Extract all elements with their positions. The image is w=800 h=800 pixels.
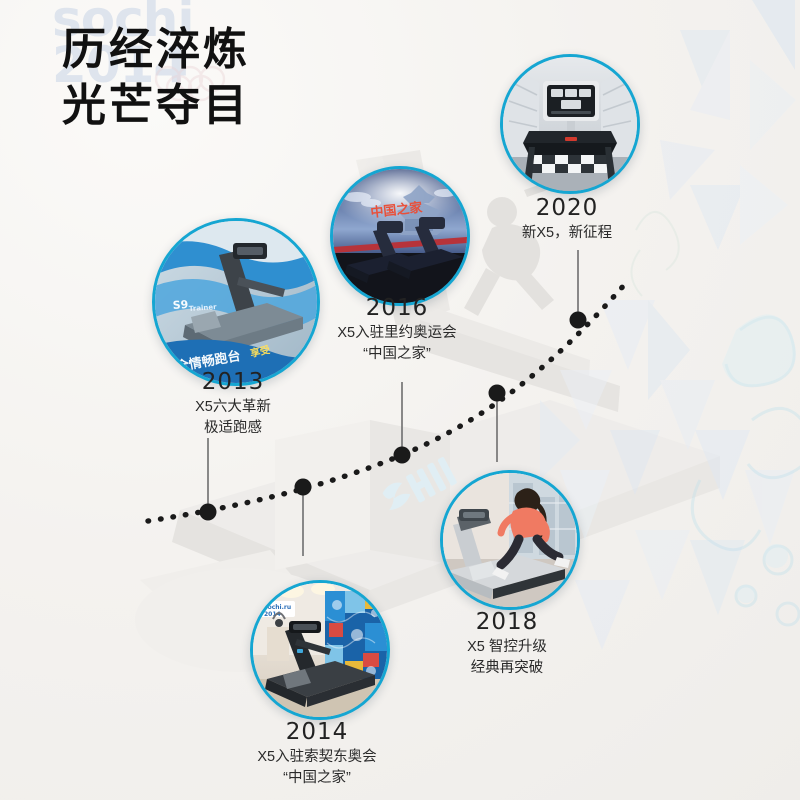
desc2-2013: 极适跑感 <box>132 418 334 439</box>
desc1-2013: X5六大革新 <box>132 397 334 418</box>
caption-2018: 2018 X5 智控升级 经典再突破 <box>403 608 611 679</box>
bubble-2018[interactable] <box>440 470 580 610</box>
rio-china-house-treadmills-photo: 中国之家 <box>333 169 467 303</box>
page-title: 历经淬炼 光芒夺目 <box>62 22 250 134</box>
caption-2013: 2013 X5六大革新 极适跑感 <box>132 368 334 439</box>
year-2016: 2016 <box>285 294 509 323</box>
caption-2016: 2016 X5入驻里约奥运会 “中国之家” <box>285 294 509 365</box>
bubble-2014[interactable]: sochi.ru 2014 <box>250 580 390 720</box>
milestone-2014[interactable]: sochi.ru 2014 <box>250 580 390 720</box>
year-2013: 2013 <box>132 368 334 397</box>
new-x5-console-treadmill-photo <box>503 57 637 191</box>
caption-2020: 2020 新X5，新征程 <box>467 194 667 244</box>
bubble-2016[interactable]: 中国之家 <box>330 166 470 306</box>
desc2-2018: 经典再突破 <box>403 658 611 679</box>
desc1-2020: 新X5，新征程 <box>467 223 667 244</box>
svg-text:S9: S9 <box>172 298 188 312</box>
desc1-2018: X5 智控升级 <box>403 637 611 658</box>
svg-text:2014: 2014 <box>264 611 281 618</box>
caption-2014: 2014 X5入驻索契东奥会 “中国之家” <box>205 718 429 789</box>
year-2014: 2014 <box>205 718 429 747</box>
desc2-2016: “中国之家” <box>285 344 509 365</box>
desc2-2014: “中国之家” <box>205 768 429 789</box>
runner-on-treadmill-photo <box>443 473 577 607</box>
year-2020: 2020 <box>467 194 667 223</box>
headline-line-2: 光芒夺目 <box>62 78 250 134</box>
svg-text:sochi.ru: sochi.ru <box>264 604 291 611</box>
desc1-2016: X5入驻里约奥运会 <box>285 323 509 344</box>
bubble-2020[interactable] <box>500 54 640 194</box>
year-2018: 2018 <box>403 608 611 637</box>
milestone-2016[interactable]: 中国之家 2016 X5入驻里约奥运会 “中国 <box>330 166 470 306</box>
desc1-2014: X5入驻索契东奥会 <box>205 747 429 768</box>
headline-line-1: 历经淬炼 <box>62 22 250 78</box>
sochi-china-house-treadmill-photo: sochi.ru 2014 <box>253 583 387 717</box>
milestone-2018[interactable]: 2018 X5 智控升级 经典再突破 <box>440 470 580 610</box>
milestone-2020[interactable]: 2020 新X5，新征程 <box>500 54 640 194</box>
infographic-canvas: sochi 2014 <box>0 0 800 800</box>
